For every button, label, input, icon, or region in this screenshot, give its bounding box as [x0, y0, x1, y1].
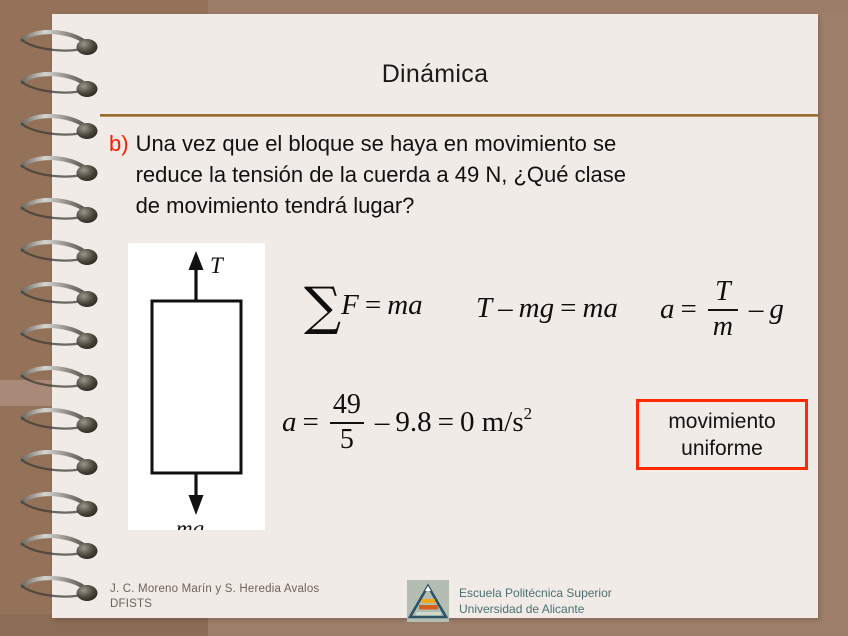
free-body-diagram-svg: T mg: [128, 243, 265, 530]
bullet-marker-b: b): [109, 128, 136, 159]
footer-institution-line-1: Escuela Politécnica Superior: [459, 585, 612, 601]
answer-highlight-box: movimiento uniforme: [636, 399, 808, 470]
equation-numeric-result: a = 49 5 – 9.8 = 0 m/s 2: [282, 391, 532, 454]
sum-forces-equals: =: [359, 289, 387, 322]
accel-numerator: T: [712, 278, 734, 307]
footer-institution-line-2: Universidad de Alicante: [459, 601, 612, 617]
newton-minus: –: [492, 292, 519, 325]
tension-arrow-up: [189, 251, 204, 302]
newton-t: T: [476, 292, 492, 325]
equation-sum-forces: ∑ F = ma: [304, 287, 423, 324]
footer-authors-dept: DFISTS: [110, 597, 319, 612]
equation-newton: T – mg = ma: [476, 292, 618, 325]
accel-g: g: [769, 293, 784, 326]
accel-fraction: T m: [703, 278, 743, 341]
numeric-result: 0 m/s: [460, 406, 524, 439]
block-rectangle: [152, 301, 241, 473]
accel-minus: –: [743, 293, 770, 326]
accel-a: a: [660, 293, 675, 326]
accel-equals: =: [675, 293, 703, 326]
eps-triangle-logo-icon: [407, 580, 449, 622]
footer-institution: Escuela Politécnica Superior Universidad…: [407, 580, 612, 622]
numeric-gravity-value: 9.8: [395, 406, 431, 439]
sigma-symbol: ∑: [304, 289, 341, 326]
numeric-equals-1: =: [297, 406, 325, 439]
newton-equals: =: [554, 292, 582, 325]
sum-forces-f: F: [341, 289, 359, 322]
question-text: Una vez que el bloque se haya en movimie…: [136, 128, 804, 221]
sum-forces-ma: ma: [387, 289, 422, 322]
numeric-equals-2: =: [432, 406, 460, 439]
equation-acceleration: a = T m – g: [660, 278, 784, 341]
numeric-denominator: 5: [337, 426, 357, 455]
accel-denominator: m: [710, 313, 736, 342]
numeric-minus: –: [369, 406, 396, 439]
numeric-numerator: 49: [330, 391, 364, 420]
newton-ma: ma: [582, 292, 617, 325]
question-line-2: reduce la tensión de la cuerda a 49 N, ¿…: [136, 159, 804, 190]
weight-label: mg: [176, 516, 204, 530]
slide-footer: J. C. Moreno Marín y S. Heredia Avalos D…: [52, 574, 818, 622]
question-block: b) Una vez que el bloque se haya en movi…: [109, 128, 821, 221]
numeric-a: a: [282, 406, 297, 439]
answer-line-1: movimiento: [668, 408, 775, 435]
notebook-page: Dinámica b) Una vez que el bloque se hay…: [52, 14, 818, 618]
slide-stage: Dinámica b) Una vez que el bloque se hay…: [0, 0, 848, 636]
footer-authors-names: J. C. Moreno Marín y S. Heredia Avalos: [110, 582, 319, 597]
numeric-result-exponent: 2: [524, 404, 533, 424]
newton-mg: mg: [519, 292, 554, 325]
page-title: Dinámica: [52, 60, 818, 89]
tension-label: T: [210, 253, 225, 278]
footer-authors: J. C. Moreno Marín y S. Heredia Avalos D…: [110, 582, 319, 612]
question-line-3: de movimiento tendrá lugar?: [136, 190, 804, 221]
question-line-1: Una vez que el bloque se haya en movimie…: [136, 128, 804, 159]
numeric-fraction: 49 5: [325, 391, 369, 454]
free-body-diagram: T mg: [128, 243, 265, 530]
title-divider: [100, 114, 818, 117]
footer-institution-text: Escuela Politécnica Superior Universidad…: [449, 585, 612, 617]
answer-line-2: uniforme: [681, 435, 763, 462]
weight-arrow-down: [189, 472, 204, 515]
